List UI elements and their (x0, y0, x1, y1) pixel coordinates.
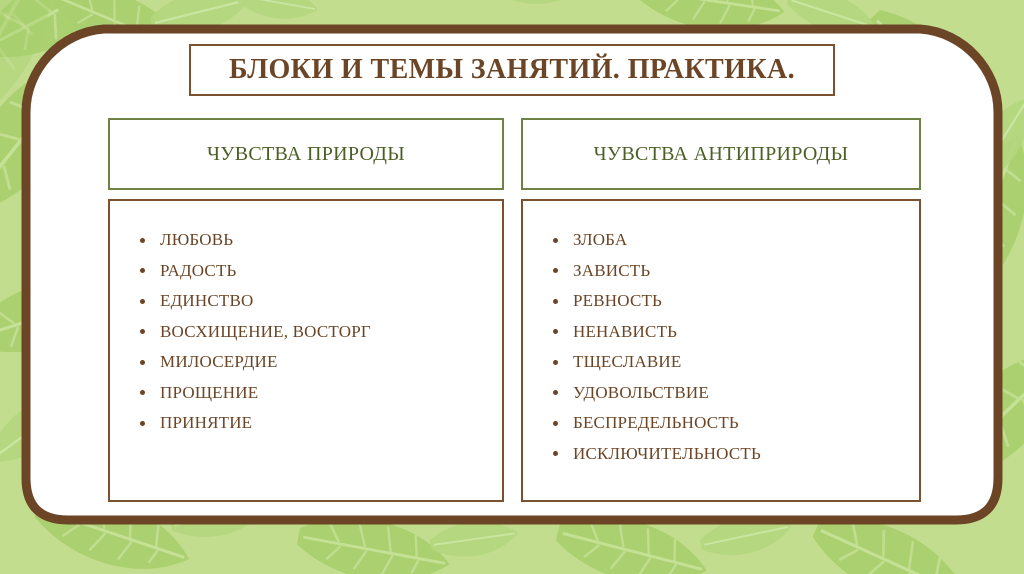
list-item: БЕСПРЕДЕЛЬНОСТЬ (551, 408, 919, 439)
bullet-icon (553, 360, 558, 365)
bullet-icon (140, 360, 145, 365)
list-item-label: ЕДИНСТВО (160, 291, 253, 310)
list-item-label: РАДОСТЬ (160, 261, 237, 280)
list-item-label: ЗАВИСТЬ (573, 261, 650, 280)
list-item: ИСКЛЮЧИТЕЛЬНОСТЬ (551, 439, 919, 470)
column-header-label-right: ЧУВСТВА АНТИПРИРОДЫ (594, 143, 849, 166)
list-item-label: ЛЮБОВЬ (160, 230, 233, 249)
list-item: НЕНАВИСТЬ (551, 317, 919, 348)
list-box-left: ЛЮБОВЬ РАДОСТЬ ЕДИНСТВО ВОСХИЩЕНИЕ, ВОСТ… (108, 199, 504, 502)
list-item: ТЩЕСЛАВИЕ (551, 347, 919, 378)
list-item: ЛЮБОВЬ (138, 225, 502, 256)
list-item: УДОВОЛЬСТВИЕ (551, 378, 919, 409)
list-item-label: ПРИНЯТИЕ (160, 413, 252, 432)
feelings-list-right: ЗЛОБА ЗАВИСТЬ РЕВНОСТЬ НЕНАВИСТЬ ТЩЕСЛАВ… (523, 225, 919, 469)
list-item-label: БЕСПРЕДЕЛЬНОСТЬ (573, 413, 739, 432)
feelings-list-left: ЛЮБОВЬ РАДОСТЬ ЕДИНСТВО ВОСХИЩЕНИЕ, ВОСТ… (110, 225, 502, 439)
column-antinature-feelings: ЧУВСТВА АНТИПРИРОДЫ ЗЛОБА ЗАВИСТЬ РЕВНОС… (521, 118, 921, 502)
bullet-icon (553, 299, 558, 304)
bullet-icon (140, 329, 145, 334)
slide-canvas: БЛОКИ И ТЕМЫ ЗАНЯТИЙ. ПРАКТИКА. ЧУВСТВА … (0, 0, 1024, 574)
column-header-label-left: ЧУВСТВА ПРИРОДЫ (207, 143, 405, 166)
list-item: ЗАВИСТЬ (551, 256, 919, 287)
bullet-icon (553, 390, 558, 395)
list-item: МИЛОСЕРДИЕ (138, 347, 502, 378)
list-item: ПРИНЯТИЕ (138, 408, 502, 439)
list-item-label: НЕНАВИСТЬ (573, 322, 677, 341)
list-item: ЕДИНСТВО (138, 286, 502, 317)
list-item: ПРОЩЕНИЕ (138, 378, 502, 409)
bullet-icon (553, 268, 558, 273)
list-item-label: ПРОЩЕНИЕ (160, 383, 258, 402)
bullet-icon (140, 268, 145, 273)
list-item: ВОСХИЩЕНИЕ, ВОСТОРГ (138, 317, 502, 348)
list-item: РЕВНОСТЬ (551, 286, 919, 317)
list-item-label: ВОСХИЩЕНИЕ, ВОСТОРГ (160, 322, 371, 341)
bullet-icon (140, 299, 145, 304)
column-header-box-right: ЧУВСТВА АНТИПРИРОДЫ (521, 118, 921, 190)
bullet-icon (553, 421, 558, 426)
list-item-label: МИЛОСЕРДИЕ (160, 352, 278, 371)
column-nature-feelings: ЧУВСТВА ПРИРОДЫ ЛЮБОВЬ РАДОСТЬ ЕДИНСТВО … (108, 118, 504, 502)
list-item-label: РЕВНОСТЬ (573, 291, 662, 310)
list-item-label: ЗЛОБА (573, 230, 627, 249)
list-box-right: ЗЛОБА ЗАВИСТЬ РЕВНОСТЬ НЕНАВИСТЬ ТЩЕСЛАВ… (521, 199, 921, 502)
bullet-icon (553, 329, 558, 334)
bullet-icon (553, 238, 558, 243)
list-item: ЗЛОБА (551, 225, 919, 256)
bullet-icon (140, 421, 145, 426)
bullet-icon (140, 238, 145, 243)
list-item-label: ИСКЛЮЧИТЕЛЬНОСТЬ (573, 444, 761, 463)
list-item-label: УДОВОЛЬСТВИЕ (573, 383, 709, 402)
column-header-box-left: ЧУВСТВА ПРИРОДЫ (108, 118, 504, 190)
list-item: РАДОСТЬ (138, 256, 502, 287)
list-item-label: ТЩЕСЛАВИЕ (573, 352, 681, 371)
bullet-icon (553, 451, 558, 456)
slide-title-box: БЛОКИ И ТЕМЫ ЗАНЯТИЙ. ПРАКТИКА. (189, 44, 835, 96)
page-title: БЛОКИ И ТЕМЫ ЗАНЯТИЙ. ПРАКТИКА. (229, 56, 795, 84)
bullet-icon (140, 390, 145, 395)
slide-content: БЛОКИ И ТЕМЫ ЗАНЯТИЙ. ПРАКТИКА. ЧУВСТВА … (30, 26, 994, 512)
